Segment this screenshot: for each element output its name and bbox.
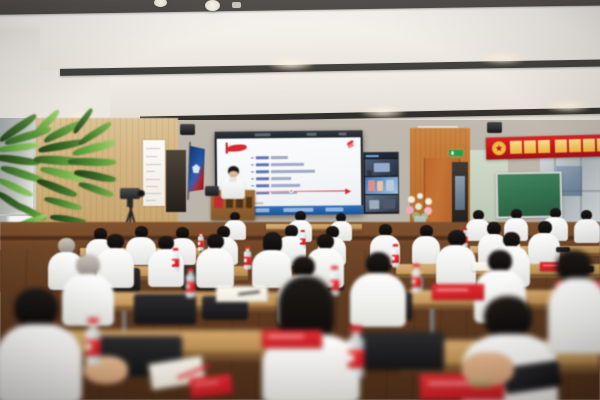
presenter (220, 166, 246, 196)
downlight-icon (545, 100, 591, 112)
slide-bullet (251, 163, 304, 167)
chair[interactable] (360, 332, 444, 370)
attendee (436, 230, 476, 284)
camera-lens-icon (137, 190, 145, 197)
attendee (0, 288, 82, 400)
ceiling-speaker-icon (487, 122, 502, 133)
downlight-icon (480, 52, 526, 64)
background-doorway (166, 150, 186, 212)
ceiling-spotlight-icon (205, 0, 220, 11)
photo-scene (0, 0, 600, 400)
sprinkler-icon (232, 2, 241, 8)
ceiling-speaker-icon (180, 124, 195, 135)
vc-participant-tile[interactable] (365, 195, 399, 212)
slide-timeline (241, 187, 351, 196)
attendee (574, 210, 600, 240)
attendee (548, 250, 600, 350)
downlight-icon (268, 58, 314, 70)
red-slogan-banner (486, 134, 600, 159)
exit-sign-icon (449, 150, 463, 156)
vc-participant-tile[interactable] (365, 177, 399, 194)
wristwatch (470, 376, 492, 388)
chair[interactable] (134, 294, 196, 324)
vc-header (364, 153, 398, 158)
downlight-icon (360, 106, 406, 118)
red-handbook[interactable] (262, 330, 322, 348)
slide-flag-icon (226, 142, 248, 153)
corporate-flag (185, 146, 205, 199)
slide-corner-ornament-icon (347, 141, 356, 149)
vc-participant-tile[interactable] (365, 159, 399, 176)
slide-bullet (251, 177, 291, 180)
slide-bullet (251, 184, 300, 188)
attendee (196, 234, 234, 284)
slide-bullet (251, 170, 315, 174)
door-glass-panel (455, 176, 465, 210)
slide-bullet (251, 156, 288, 159)
laptop[interactable] (205, 186, 219, 196)
video-conference-panel[interactable] (363, 152, 400, 214)
banner-emblem-icon (492, 141, 506, 155)
